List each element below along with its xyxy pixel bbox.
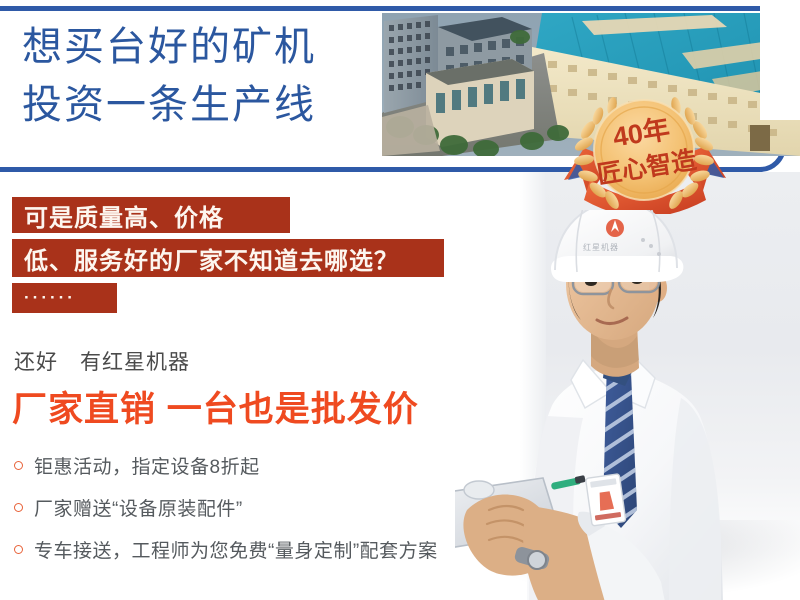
helmet-label: 红星机器 bbox=[583, 242, 619, 252]
list-item: 钜惠活动，指定设备8折起 bbox=[14, 444, 494, 486]
circle-bullet-icon bbox=[14, 545, 23, 554]
list-item: 专车接送，工程师为您免费“量身定制”配套方案 bbox=[14, 528, 494, 570]
list-item: 厂家赠送“设备原装配件” bbox=[14, 486, 494, 528]
headline-line-2: 投资一条生产线 bbox=[22, 76, 382, 134]
list-item-label: 钜惠活动，指定设备8折起 bbox=[34, 452, 260, 479]
anniversary-badge: 40年 匠心智造 bbox=[556, 84, 732, 214]
circle-bullet-icon bbox=[14, 503, 23, 512]
pain-point-banner-2: 低、服务好的厂家不知道去哪选？ bbox=[12, 239, 444, 277]
pain-point-banner-3: ······ bbox=[12, 283, 117, 313]
banner-stage: 想买台好的矿机 投资一条生产线 bbox=[0, 0, 800, 600]
helmet-logo-icon bbox=[606, 219, 624, 237]
hero-headline: 想买台好的矿机 投资一条生产线 bbox=[22, 18, 382, 134]
circle-bullet-icon bbox=[14, 461, 23, 470]
list-item-label: 专车接送，工程师为您免费“量身定制”配套方案 bbox=[34, 536, 438, 563]
headline-line-1: 想买台好的矿机 bbox=[22, 18, 382, 76]
frame-mask bbox=[760, 0, 800, 120]
promo-lead: 还好 有红星机器 bbox=[14, 346, 190, 376]
pain-point-banner-1: 可是质量高、价格 bbox=[12, 197, 290, 233]
benefit-list: 钜惠活动，指定设备8折起 厂家赠送“设备原装配件” 专车接送，工程师为您免费“量… bbox=[14, 444, 494, 570]
engineer-photo: 红星机器 bbox=[455, 210, 800, 600]
promo-headline: 厂家直销 一台也是批发价 bbox=[12, 381, 419, 432]
list-item-label: 厂家赠送“设备原装配件” bbox=[34, 494, 243, 521]
